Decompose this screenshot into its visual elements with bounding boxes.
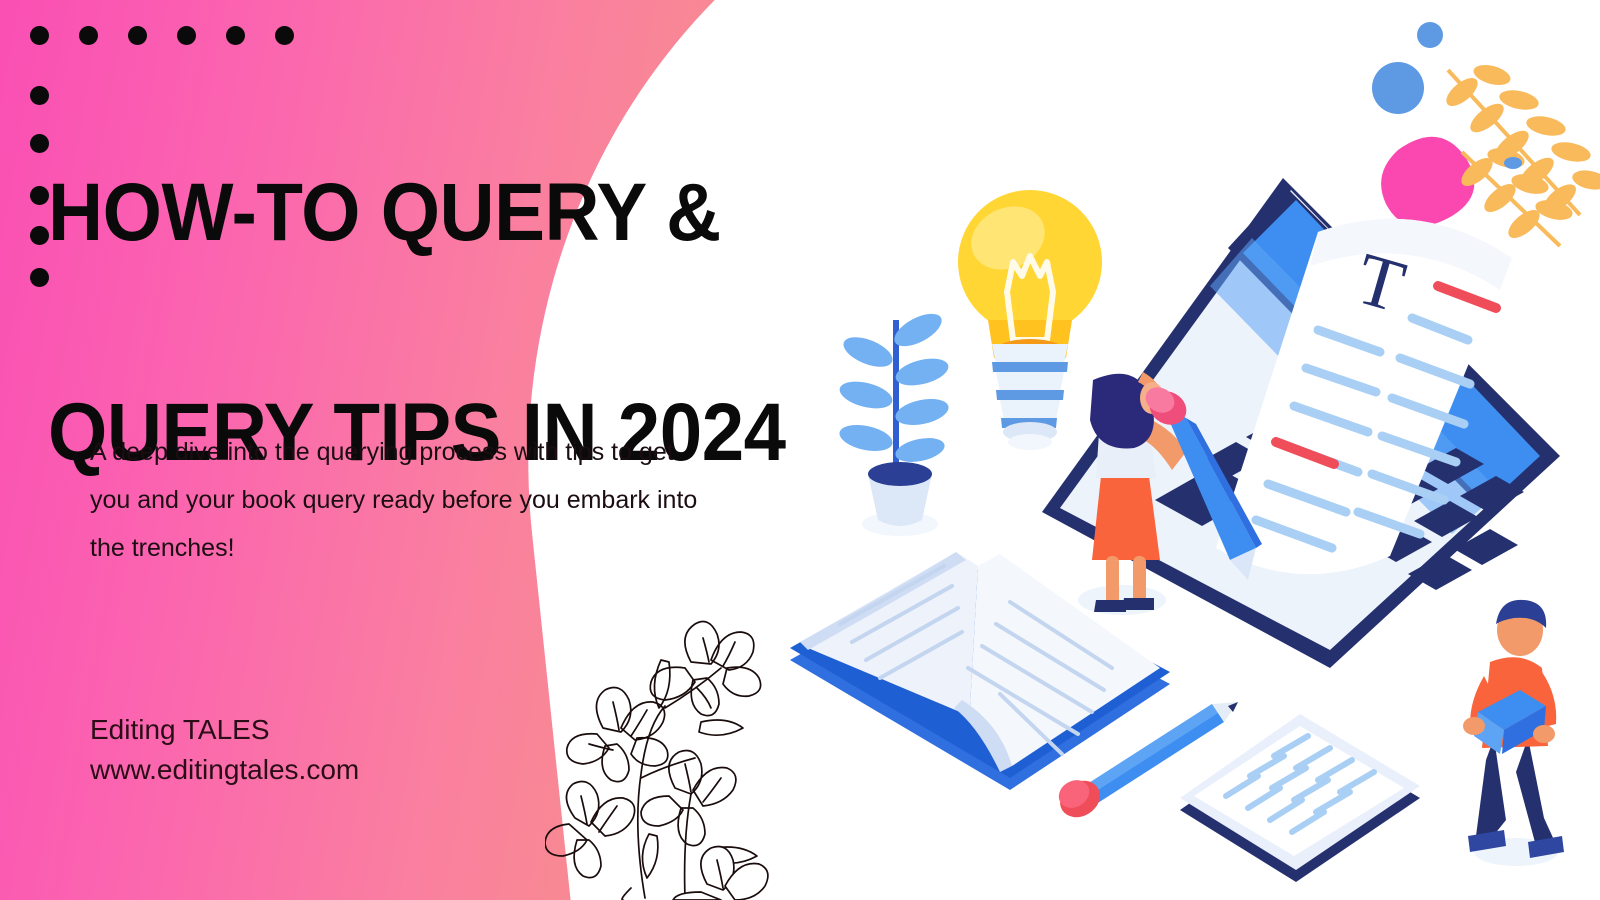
decor-dot [30, 186, 49, 205]
decor-dot [30, 268, 49, 287]
decor-dot [30, 86, 49, 105]
decor-dot [226, 26, 245, 45]
brand-block: Editing TALES www.editingtales.com [90, 710, 359, 790]
flower-lineart-icon [545, 598, 775, 900]
title-line-1: HOW-TO QUERY & [48, 158, 941, 268]
brand-url[interactable]: www.editingtales.com [90, 750, 359, 790]
decor-dot [79, 26, 98, 45]
decor-dot [128, 26, 147, 45]
decor-dot [275, 26, 294, 45]
brand-name: Editing TALES [90, 710, 359, 750]
decor-dot [177, 26, 196, 45]
subtitle-text: A deep dive into the querying process wi… [90, 428, 700, 572]
decor-dot [30, 226, 49, 245]
decor-dot [30, 134, 49, 153]
decor-dot [30, 26, 49, 45]
poster-canvas: T [0, 0, 1600, 900]
